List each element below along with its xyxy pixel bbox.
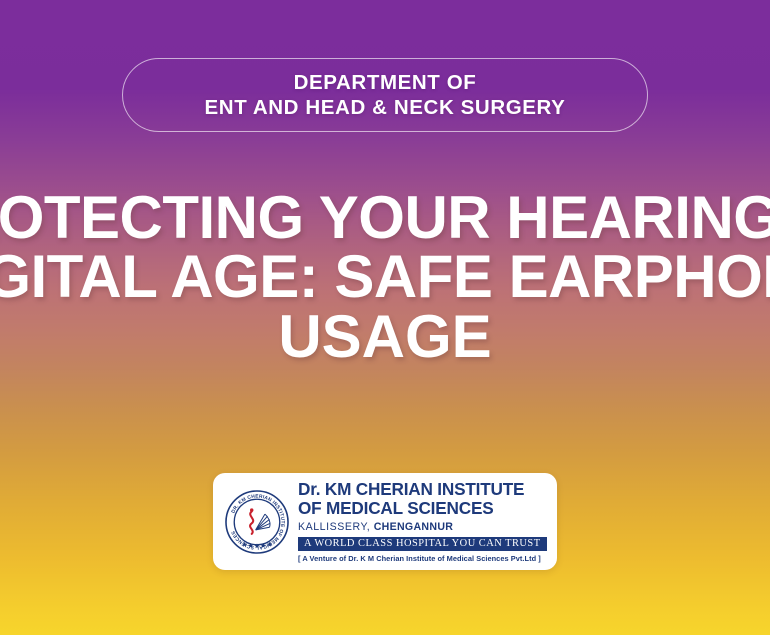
department-pill: DEPARTMENT OF ENT AND HEAD & NECK SURGER… [122, 58, 648, 132]
department-line-2: ENT AND HEAD & NECK SURGERY [205, 95, 566, 120]
department-pill-text: DEPARTMENT OF ENT AND HEAD & NECK SURGER… [205, 70, 566, 120]
poster-canvas: DEPARTMENT OF ENT AND HEAD & NECK SURGER… [0, 0, 770, 635]
headline-line-3: USAGE [0, 307, 770, 366]
hospital-logo-card: DR. KM CHERIAN INSTITUTE OF MEDICAL SCIE… [213, 473, 557, 570]
hospital-location-town: CHENGANNUR [374, 521, 454, 533]
department-line-1: DEPARTMENT OF [205, 70, 566, 95]
hospital-tagline: A WORLD CLASS HOSPITAL YOU CAN TRUST [298, 537, 547, 552]
hospital-venture-note: [ A Venture of Dr. K M Cherian Institute… [298, 554, 548, 563]
headline-line-1: PROTECTING YOUR HEARING IN [0, 188, 770, 247]
hospital-location: KALLISSERY, CHENGANNUR [298, 521, 548, 533]
hospital-name-line-1: Dr. KM CHERIAN INSTITUTE [298, 479, 524, 499]
hospital-name: Dr. KM CHERIAN INSTITUTE OF MEDICAL SCIE… [298, 480, 548, 518]
headline-line-2: DIGITAL AGE: SAFE EARPHONE [0, 247, 770, 306]
hospital-seal-icon: DR. KM CHERIAN INSTITUTE OF MEDICAL SCIE… [224, 489, 290, 555]
page-title: PROTECTING YOUR HEARING IN DIGITAL AGE: … [0, 188, 770, 366]
hospital-location-city: KALLISSERY [298, 521, 367, 533]
hospital-location-separator: , [367, 521, 374, 533]
hospital-logo-text: Dr. KM CHERIAN INSTITUTE OF MEDICAL SCIE… [290, 480, 548, 563]
hospital-name-line-2: OF MEDICAL SCIENCES [298, 499, 548, 518]
